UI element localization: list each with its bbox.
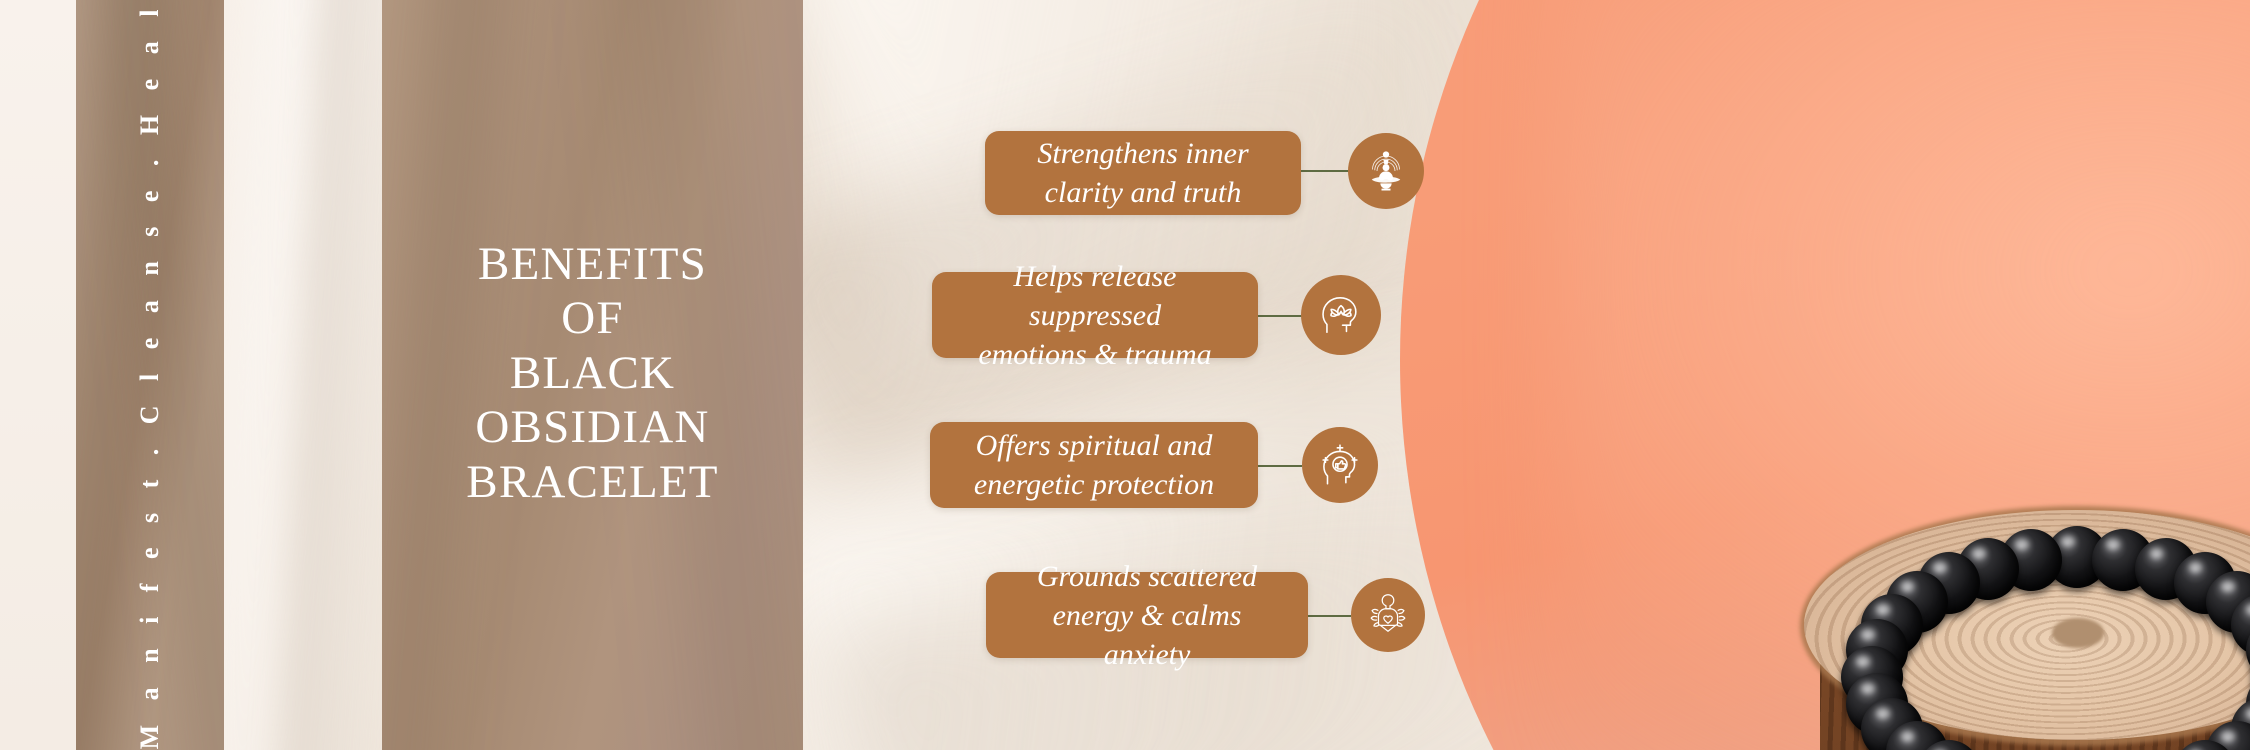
benefit-card-3-line-2: energetic protection — [974, 465, 1214, 504]
benefit-icon-circle-4[interactable] — [1351, 578, 1425, 652]
connector-line-2 — [1258, 315, 1302, 317]
page-title: BENEFITS OF BLACK OBSIDIAN BRACELET — [466, 237, 718, 514]
benefit-card-4-line-1: Grounds scattered — [1006, 557, 1288, 596]
benefit-card-3[interactable]: Offers spiritual and energetic protectio… — [930, 422, 1258, 508]
side-tagline-band: M a n i f e s t . C l e a n s e . H e a … — [76, 0, 224, 750]
photo-backdrop — [1400, 0, 2250, 750]
connector-line-3 — [1258, 465, 1302, 467]
title-line-5: BRACELET — [466, 455, 718, 510]
benefit-card-1-line-1: Strengthens inner — [1037, 134, 1248, 173]
title-line-1: BENEFITS — [466, 237, 718, 292]
head-with-positive-mind-icon — [1315, 440, 1365, 490]
product-photo — [1400, 0, 2250, 750]
benefit-card-2[interactable]: Helps release suppressed emotions & trau… — [932, 272, 1258, 358]
person-holding-heart-icon — [1363, 590, 1413, 640]
connector-line-1 — [1300, 170, 1352, 172]
benefit-card-2-line-1: Helps release suppressed — [952, 257, 1238, 335]
benefit-card-1[interactable]: Strengthens inner clarity and truth — [985, 131, 1301, 215]
benefit-icon-circle-1[interactable] — [1348, 133, 1424, 209]
benefit-card-2-line-2: emotions & trauma — [952, 335, 1238, 374]
connector-line-4 — [1307, 615, 1351, 617]
side-tagline-text: M a n i f e s t . C l e a n s e . H e a … — [135, 1, 165, 750]
background-cream-strip — [0, 0, 76, 750]
title-line-2: OF — [466, 291, 718, 346]
title-line-4: OBSIDIAN — [466, 400, 718, 455]
title-panel: BENEFITS OF BLACK OBSIDIAN BRACELET — [382, 0, 803, 750]
benefit-card-4[interactable]: Grounds scattered energy & calms anxiety — [986, 572, 1308, 658]
benefit-card-1-line-2: clarity and truth — [1037, 173, 1248, 212]
benefit-card-3-line-1: Offers spiritual and — [974, 426, 1214, 465]
benefit-icon-circle-2[interactable] — [1301, 275, 1381, 355]
meditating-person-icon — [1362, 147, 1410, 195]
head-with-lotus-icon — [1316, 290, 1366, 340]
benefit-icon-circle-3[interactable] — [1302, 427, 1378, 503]
benefit-card-4-line-2: energy & calms anxiety — [1006, 596, 1288, 674]
title-line-3: BLACK — [466, 346, 718, 401]
obsidian-bracelet — [1830, 525, 2250, 750]
banner-canvas: M a n i f e s t . C l e a n s e . H e a … — [0, 0, 2250, 750]
